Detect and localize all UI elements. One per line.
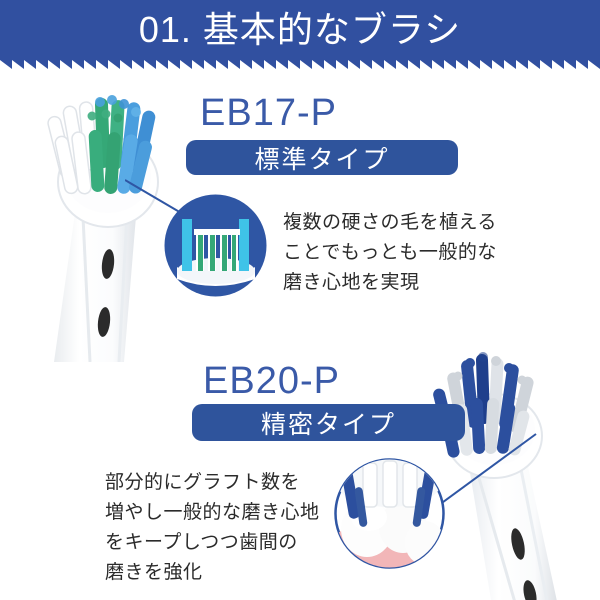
eb17-type-badge: 標準タイプ [186, 140, 458, 175]
eb17-model-code: EB17-P [200, 92, 337, 135]
eb20-interdental-zoom-circle [333, 457, 446, 570]
page-title: 01. 基本的なブラシ [0, 0, 600, 60]
eb20-model-code: EB20-P [203, 360, 340, 403]
eb17-description: 複数の硬さの毛を植える ことでもっとも一般的な 磨き心地を実現 [283, 208, 513, 298]
eb20-description: 部分的にグラフト数を 増やし一般的な磨き心地 をキープしつつ歯間の 磨きを強化 [105, 468, 335, 588]
eb17-bristle-zoom-circle [163, 193, 268, 298]
infographic-page: 01. 基本的なブラシ [0, 0, 600, 600]
page-header: 01. 基本的なブラシ [0, 0, 600, 66]
eb20-type-badge: 精密タイプ [192, 404, 465, 441]
